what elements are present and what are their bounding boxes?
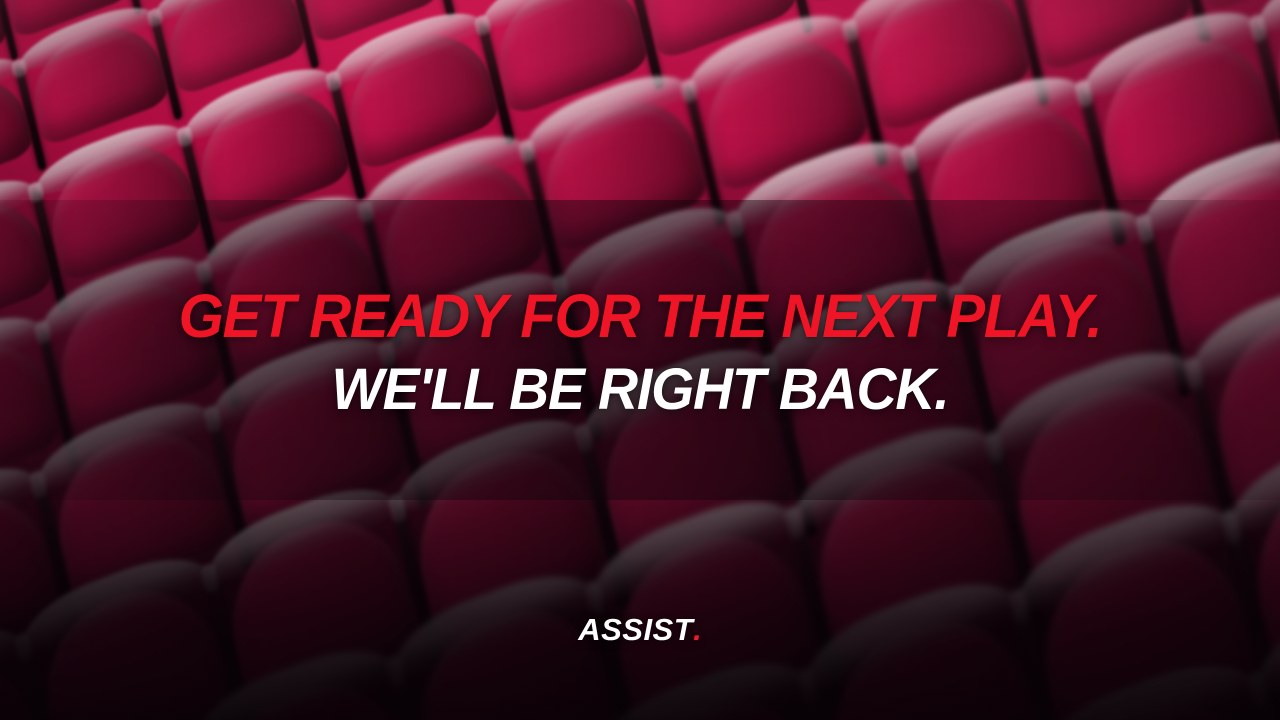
headline-block: GET READY FOR THE NEXT PLAY. WE'LL BE RI… (0, 286, 1280, 419)
brand-logo: ASSIST. (0, 612, 1280, 648)
brand-wordmark: ASSIST (578, 612, 693, 647)
brand-accent-dot: . (693, 612, 702, 647)
headline-secondary: WE'LL BE RIGHT BACK. (29, 361, 1251, 419)
interstitial-screen: GET READY FOR THE NEXT PLAY. WE'LL BE RI… (0, 0, 1280, 720)
headline-primary: GET READY FOR THE NEXT PLAY. (29, 286, 1251, 347)
